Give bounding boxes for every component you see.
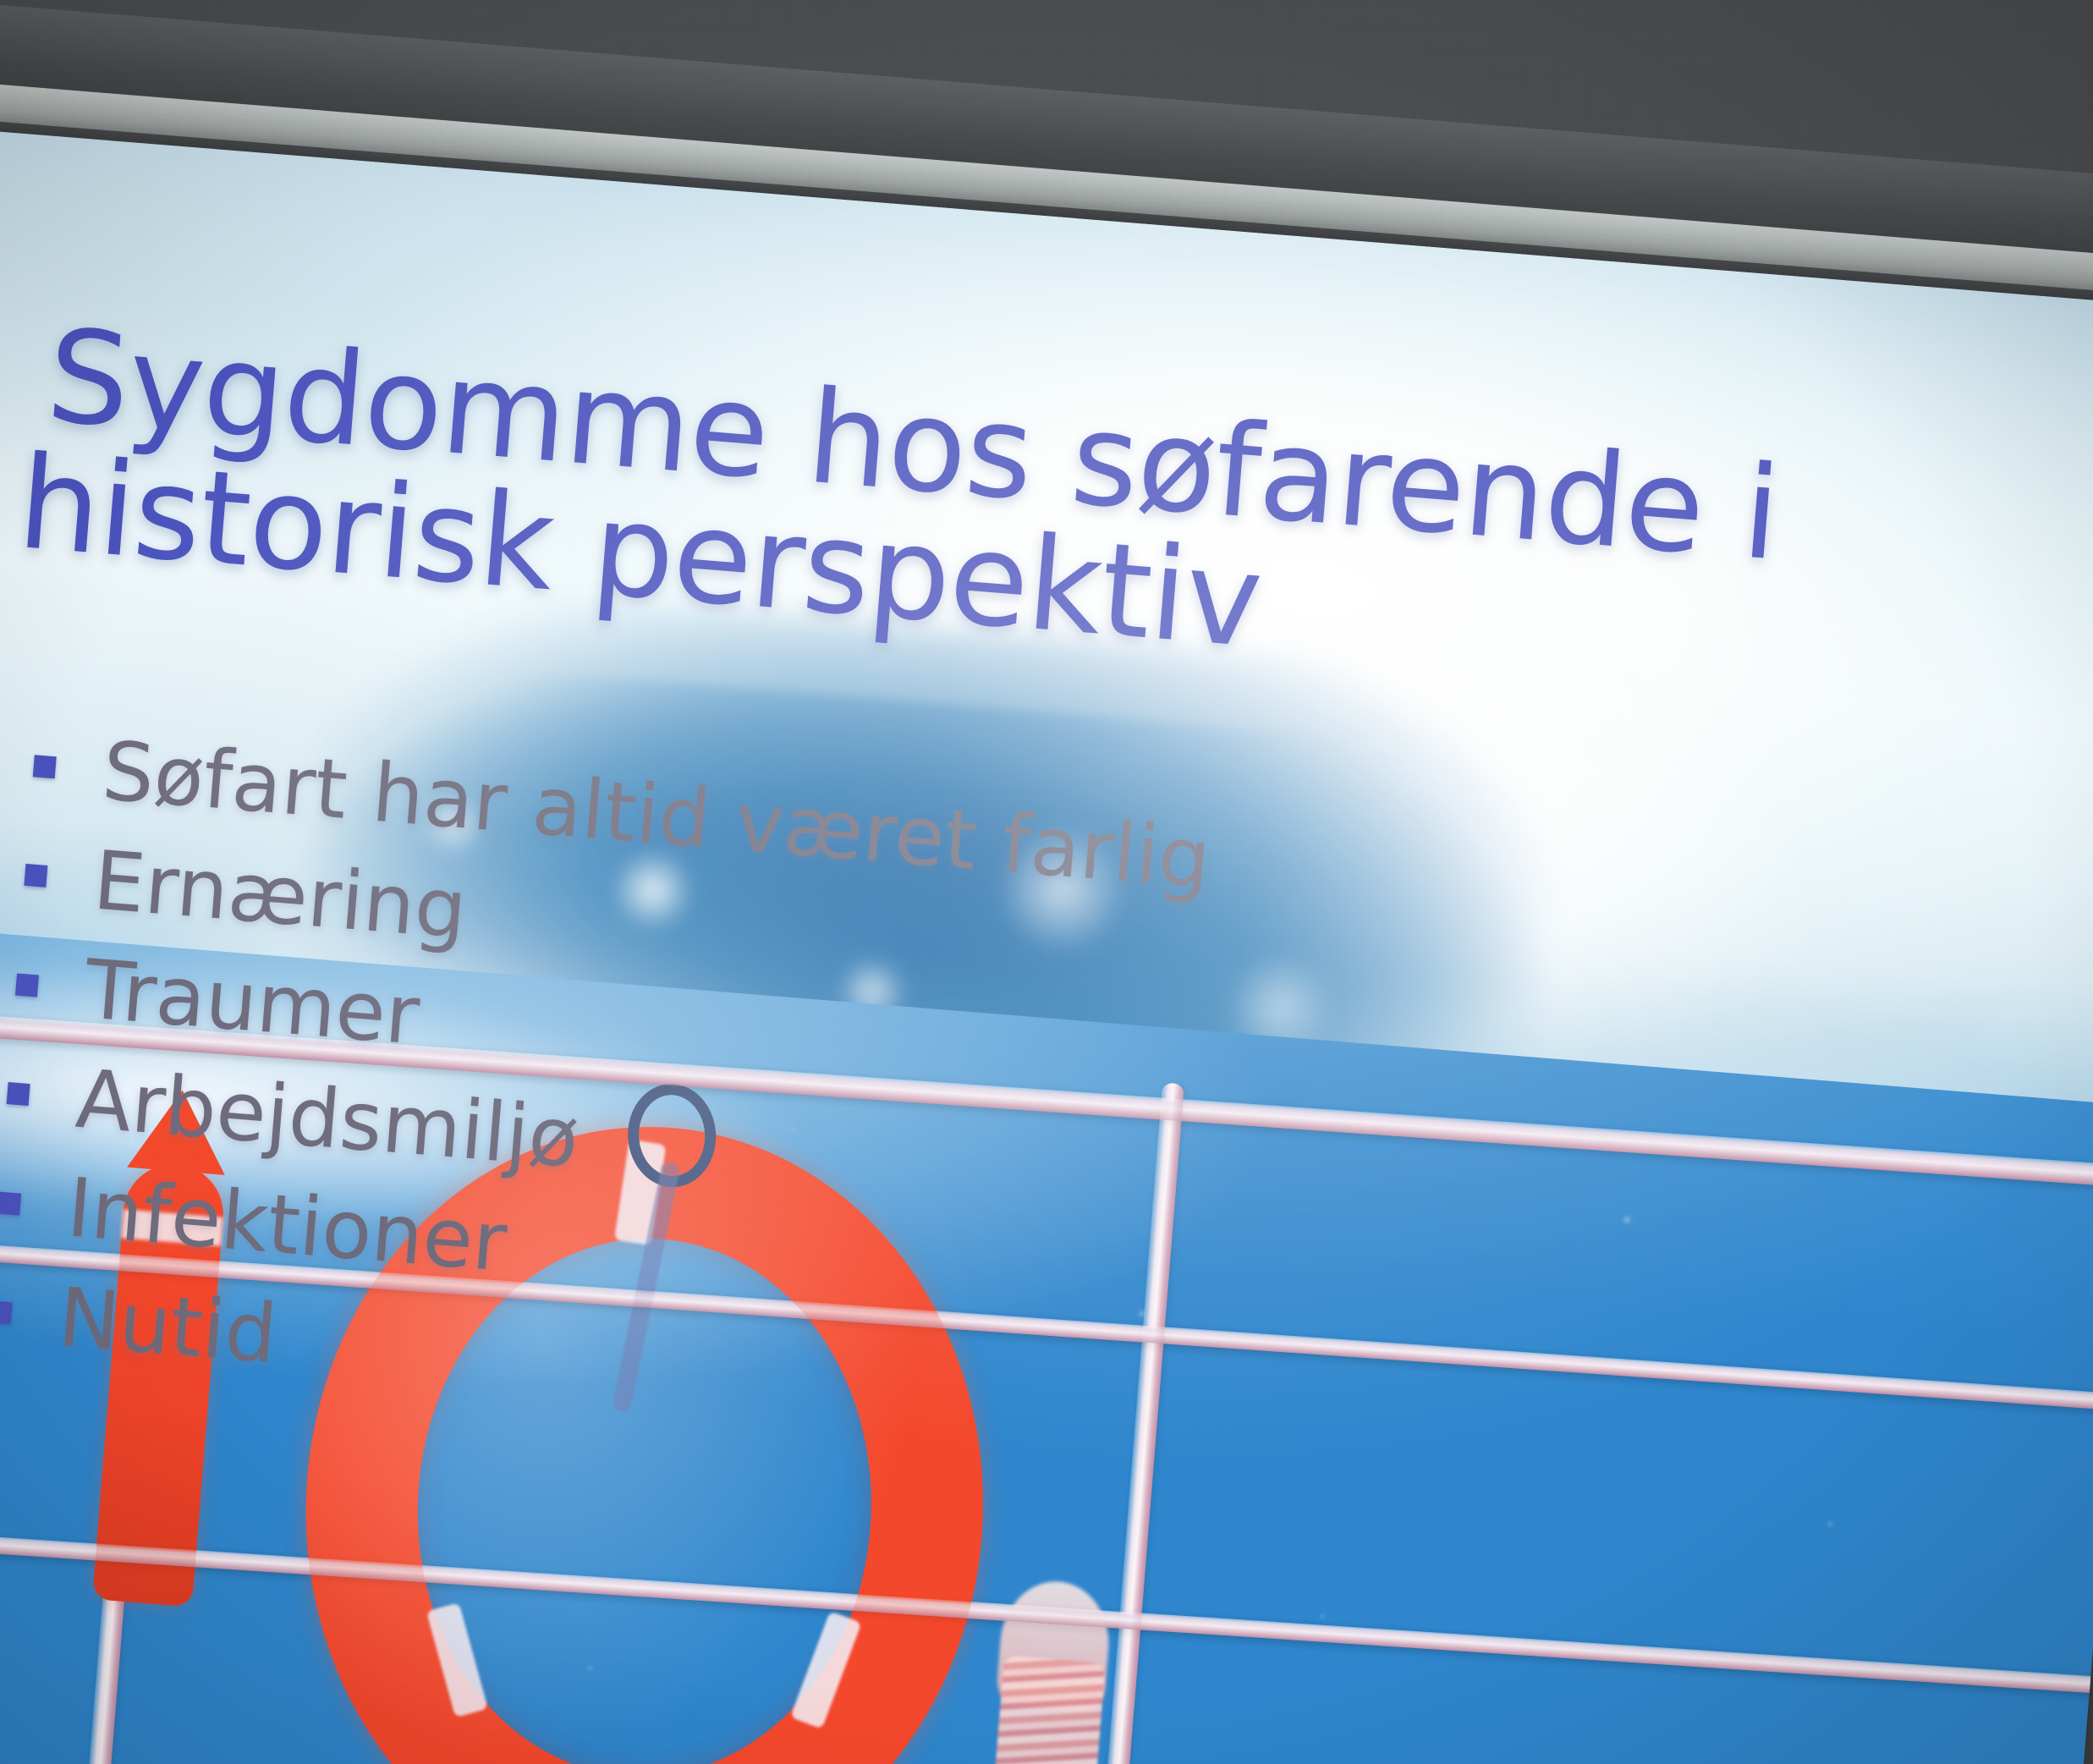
bullet-label: Arbejdsmiljø (73, 1053, 582, 1184)
square-bullet-icon (33, 755, 57, 778)
square-bullet-icon (15, 973, 39, 997)
slide-bullet-list: Søfart har altid været farlig Ernæring T… (0, 720, 1640, 1504)
slide-text-layer: Sygdomme hos søfarende i historisk persp… (0, 127, 2093, 1764)
square-bullet-icon (0, 1301, 13, 1325)
bullet-label: Ernæring (91, 835, 470, 956)
square-bullet-icon (0, 1191, 21, 1215)
bullet-label: Nutid (55, 1272, 280, 1380)
projection-screen: Sygdomme hos søfarende i historisk persp… (0, 127, 2093, 1764)
room-scene: Sygdomme hos søfarende i historisk persp… (0, 0, 2093, 1764)
bullet-label: Traumer (81, 944, 422, 1062)
square-bullet-icon (7, 1082, 30, 1106)
bullet-label: Infektioner (64, 1162, 510, 1289)
square-bullet-icon (24, 864, 47, 887)
